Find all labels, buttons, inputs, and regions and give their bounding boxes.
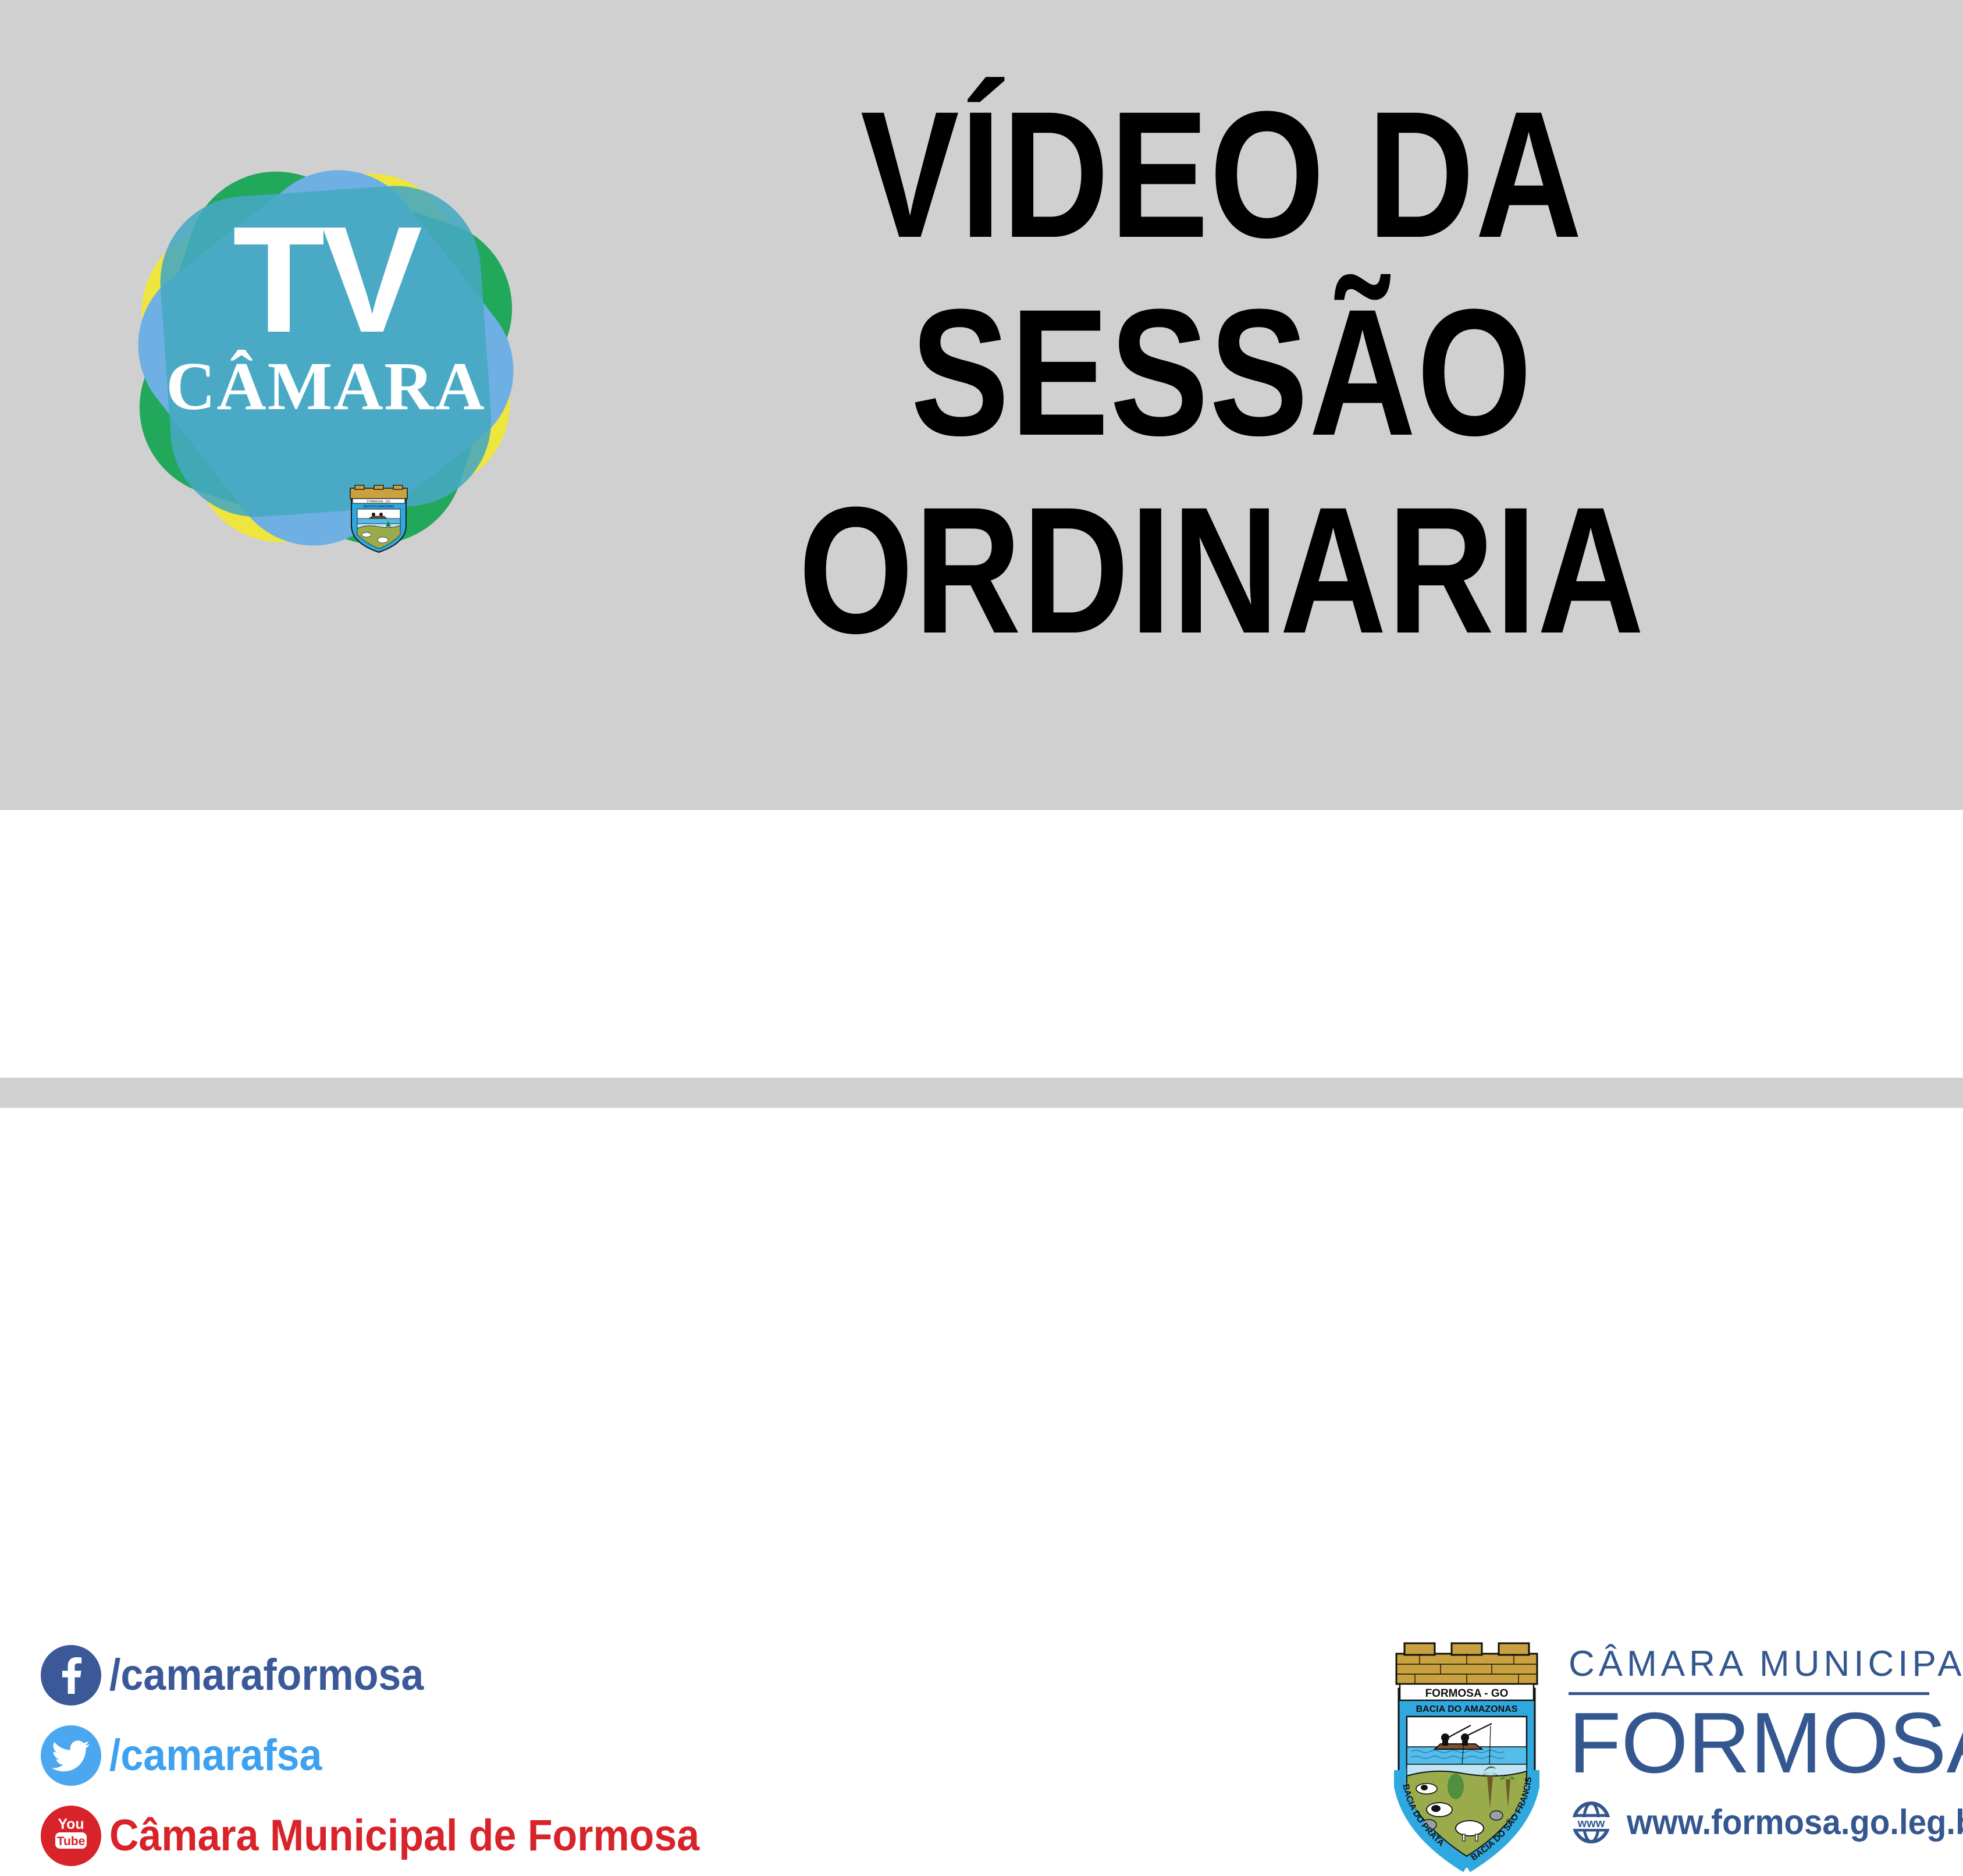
social-row-facebook[interactable]: /camaraformosa [41,1635,751,1715]
logo-crest-icon: FORMOSA - GO BACIA DO AMAZONAS [349,485,408,553]
brand-text-group: CÂMARA MUNICIPAL FORMOSA www www.formosa… [1569,1641,1963,1845]
bottom-grey-strip [0,1078,1963,1108]
social-row-youtube[interactable]: You Tube Câmara Municipal de Formosa [41,1796,751,1876]
facebook-icon[interactable] [41,1645,101,1706]
tv-camara-logo: TV CÂMARA FORMOSA - GO BACIA DO AMAZONAS [116,148,535,567]
social-row-twitter[interactable]: /camarafsa [41,1715,751,1796]
logo-camara-text: CÂMARA [116,352,535,421]
svg-text:You: You [58,1816,84,1832]
svg-text:Tube: Tube [57,1835,86,1848]
facebook-handle[interactable]: /camaraformosa [109,1653,424,1697]
youtube-handle[interactable]: Câmara Municipal de Formosa [109,1814,699,1858]
youtube-icon[interactable]: You Tube [41,1806,101,1866]
twitter-icon[interactable] [41,1725,101,1786]
brand-title-line: CÂMARA MUNICIPAL [1569,1644,1963,1684]
footer-section: /camaraformosa /camarafsa You Tube [0,810,1963,1078]
svg-text:FORMOSA - GO: FORMOSA - GO [367,500,390,504]
hero-section: TV CÂMARA FORMOSA - GO BACIA DO AMAZONAS [0,0,1963,810]
social-links: /camaraformosa /camarafsa You Tube [41,1635,751,1876]
title-line-1: VÍDEO DA [678,76,1766,273]
brand-block: FORMOSA - GO BACIA DO AMAZONAS [1394,1641,1963,1874]
brand-wordmark: FORMOSA [1569,1700,1963,1787]
logo-tv-text: TV [116,210,535,350]
title-line-2: SESSÃO [678,273,1766,471]
svg-text:BACIA DO AMAZONAS: BACIA DO AMAZONAS [364,505,394,509]
page-title: VÍDEO DA SESSÃO ORDINARIA [678,76,1766,669]
poster-root: TV CÂMARA FORMOSA - GO BACIA DO AMAZONAS [0,0,1963,1108]
logo-text-group: TV CÂMARA FORMOSA - GO BACIA DO AMAZONAS [116,148,535,567]
brand-website-url[interactable]: www.formosa.go.leg.br [1627,1805,1963,1840]
brand-divider [1569,1692,1929,1695]
title-line-3: ORDINARIA [678,471,1766,669]
crest-banner-top: FORMOSA - GO [1425,1687,1509,1700]
crest-banner-basin: BACIA DO AMAZONAS [1416,1704,1518,1714]
twitter-handle[interactable]: /camarafsa [109,1733,322,1778]
brand-url-row[interactable]: www www.formosa.go.leg.br [1569,1800,1963,1845]
svg-text:www: www [1577,1817,1605,1830]
coat-of-arms-icon: FORMOSA - GO BACIA DO AMAZONAS [1394,1641,1539,1874]
www-globe-icon: www [1569,1800,1614,1845]
